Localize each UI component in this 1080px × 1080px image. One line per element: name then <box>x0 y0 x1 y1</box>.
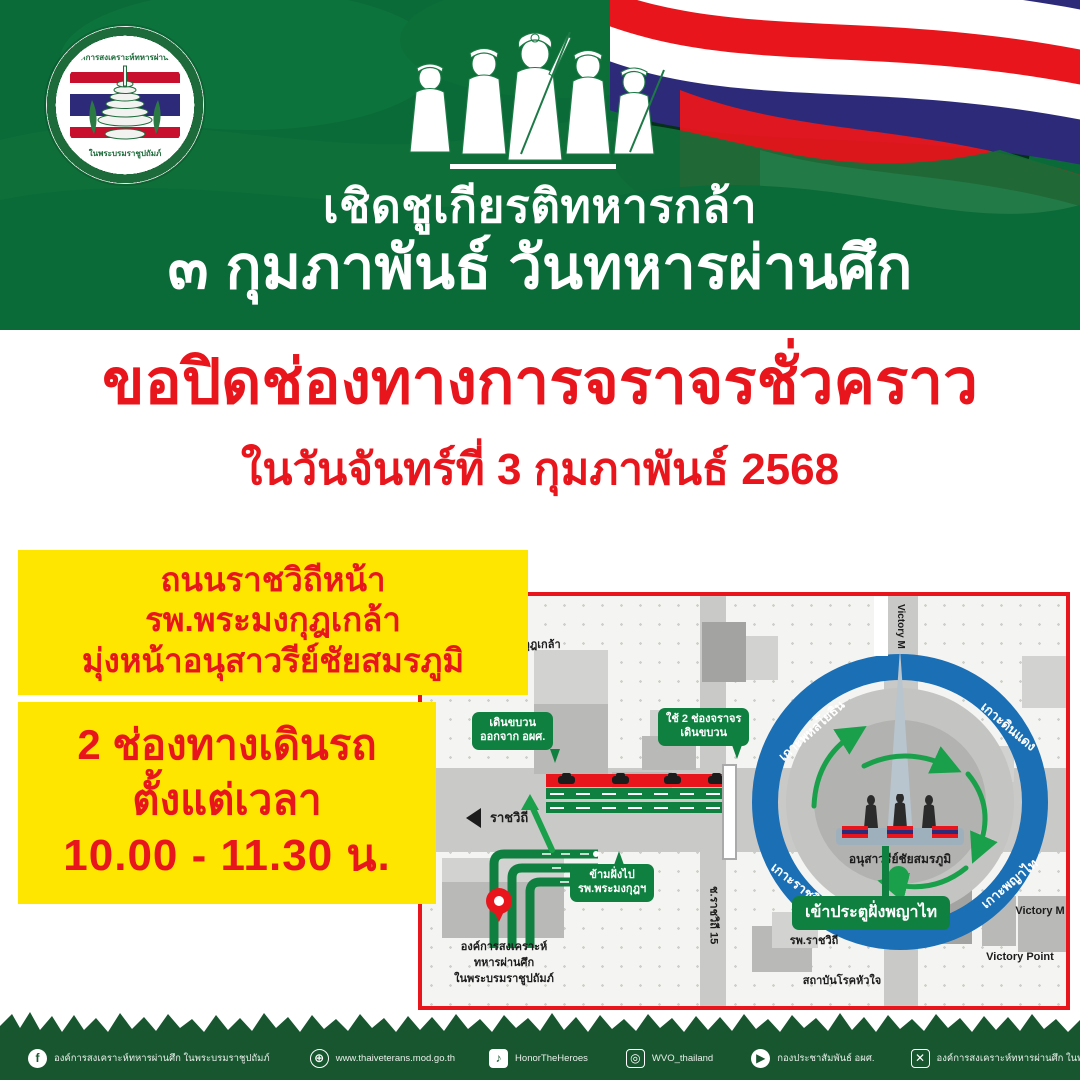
sign-enter-phayathai-gate[interactable]: เข้าประตูฝั่งพญาไท <box>792 896 950 930</box>
label-hospital-rajavithi: รพ.ราชวิถี <box>790 934 839 948</box>
tiktok-label: HonorTheHeroes <box>515 1053 588 1064</box>
sign-enter-gate-text: เข้าประตูฝั่งพญาไท <box>805 903 937 923</box>
label-soi-ratchawithi-15: ช.ราชวิถี 15 <box>706 886 720 944</box>
sign-two-lanes[interactable]: ใช้ 2 ช่องจราจร เดินขบวน <box>658 708 749 746</box>
footer-item-website[interactable]: ⊕ www.thaiveterans.mod.go.th <box>310 1049 455 1068</box>
x-twitter-icon: ✕ <box>911 1049 930 1068</box>
footer-item-x-twitter[interactable]: ✕ องค์การสงเคราะห์ทหารผ่านศึก ในพระบรมรา… <box>911 1049 1080 1068</box>
label-road-north-vertical: Victory M <box>894 604 907 649</box>
car-icon <box>558 776 575 784</box>
lane-time-info-box: 2 ช่องทางเดินรถ ตั้งแต่เวลา 10.00 - 11.3… <box>18 702 436 904</box>
wvo-location-pin <box>486 888 512 922</box>
car-icon <box>612 776 629 784</box>
facebook-label: องค์การสงเคราะห์ทหารผ่านศึก ในพระบรมราชู… <box>54 1051 270 1066</box>
building-hospital-upper <box>534 650 608 710</box>
x-twitter-label: องค์การสงเคราะห์ทหารผ่านศึก ในพระบรมราชู… <box>937 1051 1080 1066</box>
footer-social-bar: f องค์การสงเคราะห์ทหารผ่านศึก ในพระบรมรา… <box>0 1036 1080 1080</box>
soldiers-illustration <box>392 14 674 182</box>
label-wvo-line-1: องค์การสงเคราะห์ <box>461 940 548 954</box>
sign-cross-to-hospital[interactable]: ข้ามฝั่งไป รพ.พระมงกุฎฯ <box>570 864 654 902</box>
website-label: www.thaiveterans.mod.go.th <box>336 1053 455 1064</box>
emblem-pagoda-icon <box>62 42 188 168</box>
label-wvo-line-3: ในพระบรมราชูปถัมภ์ <box>454 972 554 986</box>
location-info-box: ถนนราชวิถีหน้า รพ.พระมงกุฎเกล้า มุ่งหน้า… <box>18 550 528 695</box>
label-wvo-line-2: ทหารผ่านศึก <box>474 956 534 970</box>
label-victory-point: Victory Point <box>986 950 1054 964</box>
entry-point-marker <box>888 866 909 887</box>
announcement-headline: ขอปิดช่องทางการจราจรชั่วคราว <box>0 352 1080 414</box>
sign-cross-line1: ข้ามฝั่งไป <box>578 869 646 883</box>
footer-item-instagram[interactable]: ◎ WVO_thailand <box>626 1049 713 1068</box>
globe-icon: ⊕ <box>310 1049 329 1068</box>
sign-two-lanes-line1: ใช้ 2 ช่องจราจร <box>666 713 741 727</box>
header-line-1: เชิดชูเกียรติทหารกล้า <box>0 183 1080 229</box>
emblem-inner: องค์การสงเคราะห์ทหารผ่านศึก ในพระบรมราชู… <box>62 42 188 168</box>
sign-enter-gate-pole <box>882 846 889 902</box>
label-heart-institute: สถาบันโรคหัวใจ <box>803 974 881 988</box>
label-victory-monument-en: Victory M <box>1015 904 1064 918</box>
poster-header: องค์การสงเคราะห์ทหารผ่านศึก ในพระบรมราชู… <box>0 0 1080 330</box>
header-line-2: ๓ กุมภาพันธ์ วันทหารผ่านศึก <box>0 238 1080 298</box>
youtube-label: กองประชาสัมพันธ์ อผศ. <box>777 1051 874 1066</box>
building-n-b <box>702 622 746 682</box>
lanes-line: 2 ช่องทางเดินรถ <box>28 718 426 773</box>
tiktok-icon: ♪ <box>489 1049 508 1068</box>
car-icon <box>664 776 681 784</box>
footer-item-facebook[interactable]: f องค์การสงเคราะห์ทหารผ่านศึก ในพระบรมรา… <box>28 1049 270 1068</box>
instagram-icon: ◎ <box>626 1049 645 1068</box>
sign-cross-line2: รพ.พระมงกุฎฯ <box>578 883 646 897</box>
sign-parade-start-line2: ออกจาก อผศ. <box>480 731 545 745</box>
instagram-label: WVO_thailand <box>652 1053 713 1064</box>
time-prefix-line: ตั้งแต่เวลา <box>28 773 426 828</box>
pedestrian-bridge-west <box>722 764 737 860</box>
youtube-icon: ▶ <box>751 1049 770 1068</box>
announcement-subheadline: ในวันจันทร์ที่ 3 กุมภาพันธ์ 2568 <box>0 448 1080 492</box>
wvo-emblem-logo: องค์การสงเคราะห์ทหารผ่านศึก ในพระบรมราชู… <box>46 26 204 184</box>
label-road-ratchawithi: ราชวิถี <box>490 810 528 827</box>
pedestrian-bridge-north <box>874 596 888 656</box>
grass-silhouette <box>0 1006 1080 1038</box>
sign-two-lanes-line2: เดินขบวน <box>666 727 741 741</box>
time-range-line: 10.00 - 11.30 น. <box>28 827 426 884</box>
footer-item-youtube[interactable]: ▶ กองประชาสัมพันธ์ อผศ. <box>751 1049 874 1068</box>
location-line-1: ถนนราชวิถีหน้า รพ.พระมงกุฎเกล้า <box>32 560 514 641</box>
sign-parade-start-line1: เดินขบวน <box>480 717 545 731</box>
facebook-icon: f <box>28 1049 47 1068</box>
footer-item-tiktok[interactable]: ♪ HonorTheHeroes <box>489 1049 588 1068</box>
location-line-2: มุ่งหน้าอนุสาวรีย์ชัยสมรภูมิ <box>32 641 514 681</box>
sign-parade-start[interactable]: เดินขบวน ออกจาก อผศ. <box>472 712 553 750</box>
